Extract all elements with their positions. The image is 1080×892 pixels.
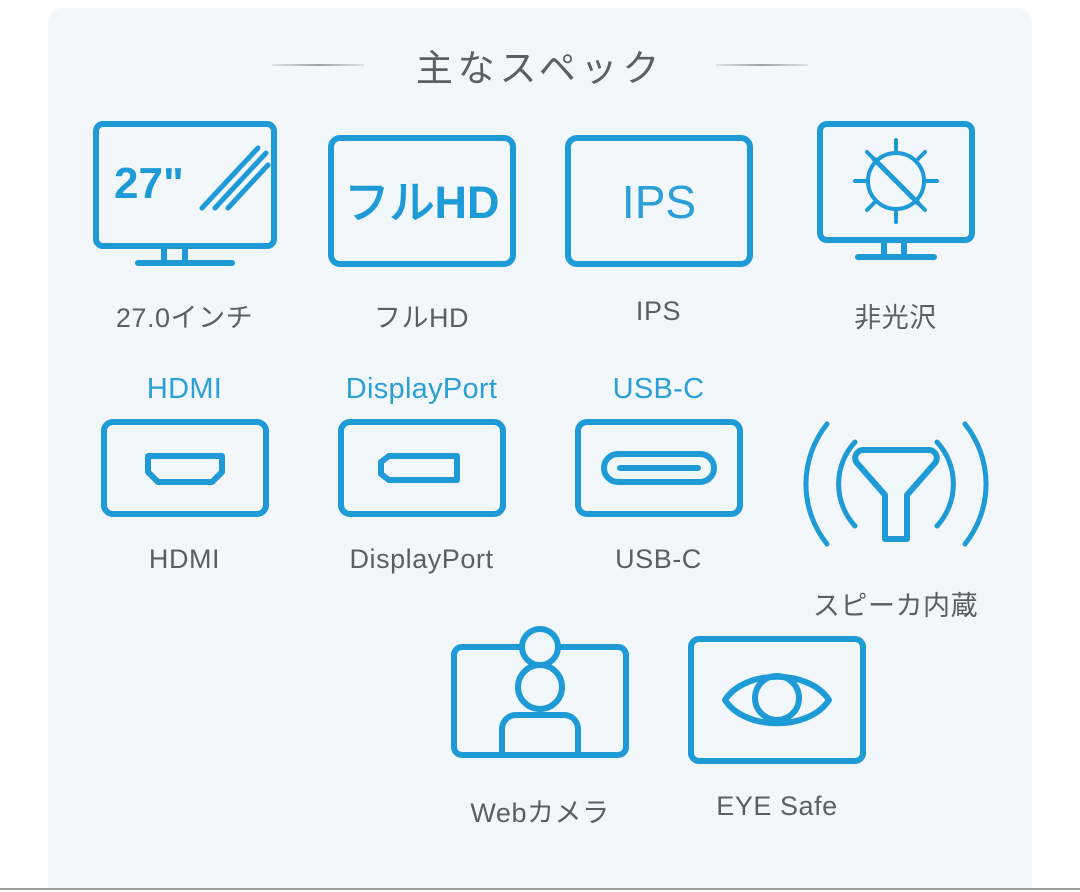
resolution-badge: フルHD [344, 177, 499, 228]
hdmi-port-icon [100, 408, 270, 518]
spec-label-speaker: スピーカ内蔵 [813, 584, 978, 623]
section-heading: 主なスペック [48, 38, 1032, 92]
built-in-speaker-icon [801, 408, 991, 558]
spec-label-displayport: DisplayPort [350, 544, 494, 575]
spec-item-usb-c[interactable]: USB-C USB-C [540, 370, 777, 575]
displayport-top-label: DisplayPort [346, 370, 497, 408]
spec-row-display: 27" 27.0インチ フルHD フルHD [48, 118, 1032, 370]
usb-c-top-label: USB-C [613, 370, 705, 408]
full-hd-screen-icon: フルHD [327, 118, 517, 268]
anti-glare-monitor-icon [816, 118, 976, 268]
monitor-27-inch-icon: 27" [92, 118, 278, 268]
spec-label-hdmi: HDMI [149, 544, 220, 575]
displayport-port-icon [337, 408, 507, 518]
heading-rule-left [272, 64, 364, 66]
bottom-divider [0, 888, 1080, 890]
spec-card: 主なスペック [48, 8, 1032, 888]
screen-size-badge: 27" [114, 159, 184, 208]
spec-label-usb-c: USB-C [615, 544, 702, 575]
spec-label-screen-size: 27.0インチ [116, 296, 253, 335]
spec-label-eye-safe: EYE Safe [716, 791, 837, 822]
spec-label-web-camera: Webカメラ [470, 791, 609, 830]
heading-rule-right [716, 64, 808, 66]
spec-item-displayport[interactable]: DisplayPort DisplayPort [303, 370, 540, 575]
spec-row-ports: HDMI HDMI DisplayPort [48, 370, 1032, 620]
spec-row-extras: Webカメラ EYE Safe [48, 620, 1032, 850]
spec-label-resolution: フルHD [374, 296, 469, 335]
usb-c-port-icon [574, 408, 744, 518]
spec-label-anti-glare: 非光沢 [854, 296, 937, 335]
web-camera-icon [450, 620, 630, 765]
spec-item-hdmi[interactable]: HDMI HDMI [66, 370, 303, 575]
panel-type-badge: IPS [621, 176, 695, 228]
eye-safe-icon [687, 620, 867, 765]
spec-item-web-camera[interactable]: Webカメラ [422, 620, 659, 830]
spec-item-screen-size[interactable]: 27" 27.0インチ [66, 118, 303, 335]
page-title: 主なスペック [416, 38, 664, 92]
spec-item-anti-glare[interactable]: 非光沢 [777, 118, 1014, 335]
spec-item-panel-type[interactable]: IPS IPS [540, 118, 777, 327]
spec-item-eye-safe[interactable]: EYE Safe [659, 620, 896, 822]
spec-label-panel-type: IPS [636, 296, 681, 327]
spec-item-resolution[interactable]: フルHD フルHD [303, 118, 540, 335]
ips-screen-icon: IPS [564, 118, 754, 268]
spec-item-speaker[interactable]: スピーカ内蔵 [777, 370, 1014, 623]
hdmi-top-label: HDMI [147, 370, 222, 408]
spec-grid: 27" 27.0インチ フルHD フルHD [48, 118, 1032, 850]
